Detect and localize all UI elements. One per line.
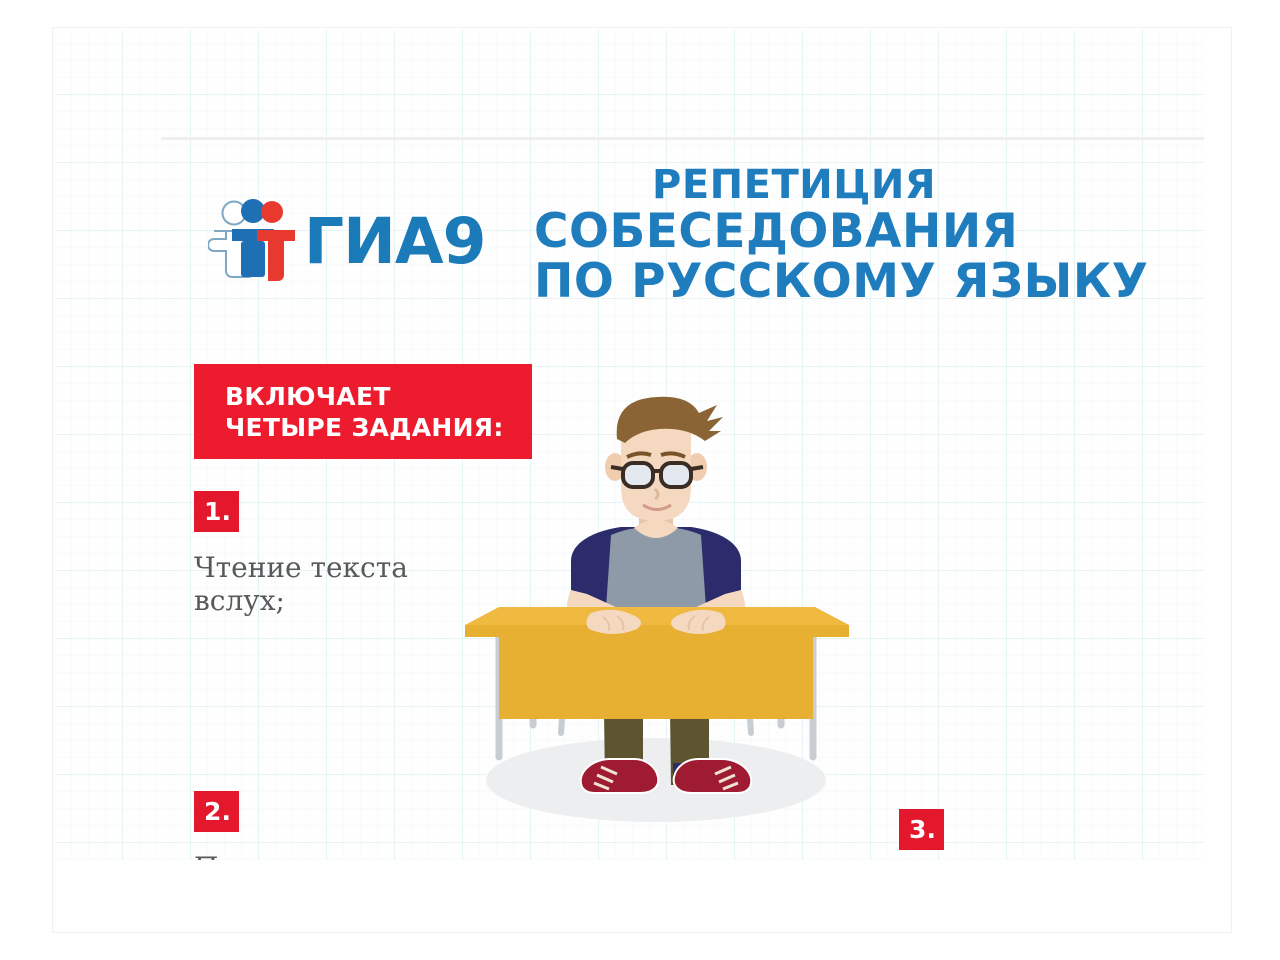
desk-top	[465, 607, 849, 625]
student-body	[567, 397, 745, 642]
slide: ГИА9 РЕПЕТИЦИЯ СОБЕСЕДОВАНИЯ ПО РУССКОМУ…	[0, 0, 1280, 960]
task-number-badge-1: 1.	[194, 491, 239, 532]
page-title: РЕПЕТИЦИЯ СОБЕСЕДОВАНИЯ ПО РУССКОМУ ЯЗЫК…	[534, 163, 1204, 307]
page-title-line-2: СОБЕСЕДОВАНИЯ	[534, 207, 1204, 257]
graph-paper-background: ГИА9 РЕПЕТИЦИЯ СОБЕСЕДОВАНИЯ ПО РУССКОМУ…	[56, 30, 1204, 860]
desk-front	[499, 637, 813, 719]
gia9-logo: ГИА9	[208, 190, 498, 288]
task-text-2: Пересказ текста с привлечением дополните…	[194, 851, 524, 860]
task-item-3: 3. Монологическое высказывание по одной …	[899, 809, 1204, 860]
student-at-desk-illustration	[451, 385, 881, 840]
page-title-line-1: РЕПЕТИЦИЯ	[534, 163, 1204, 207]
gia9-wordmark: ГИА9	[304, 210, 485, 273]
desk	[465, 607, 849, 757]
task-number-badge-2: 2.	[194, 791, 239, 832]
task-number-badge-3: 3.	[899, 809, 944, 850]
three-figures-logo-icon	[208, 197, 300, 281]
header-divider	[161, 137, 1204, 140]
page-title-line-3: ПО РУССКОМУ ЯЗЫКУ	[534, 257, 1204, 307]
